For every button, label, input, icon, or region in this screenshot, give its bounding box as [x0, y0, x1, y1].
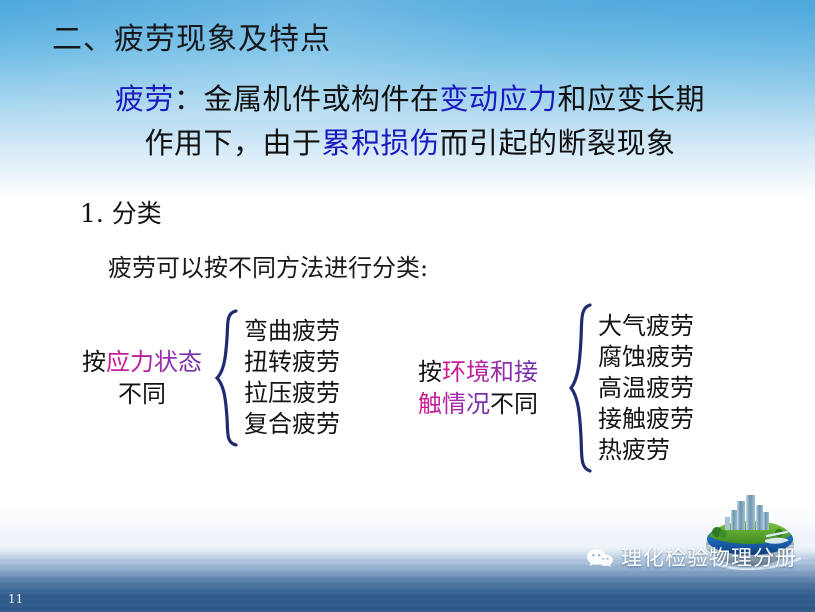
page-number: 11	[8, 592, 23, 606]
definition-term: 疲劳	[115, 82, 174, 116]
definition-part2: 和应变长期	[558, 82, 706, 116]
slide-canvas: 二、疲劳现象及特点 疲劳：金属机件或构件在变动应力和应变长期作用下，由于累积损伤…	[0, 0, 815, 612]
list-item: 热疲劳	[598, 435, 694, 466]
group-label-keyword: 应力状态	[106, 348, 202, 376]
group-label-stress-state: 按应力状态不同	[72, 346, 212, 410]
list-item: 腐蚀疲劳	[598, 342, 694, 373]
group-label-keyword: 环境和接	[442, 358, 538, 386]
list-item: 复合疲劳	[244, 409, 340, 440]
definition-paragraph: 疲劳：金属机件或构件在变动应力和应变长期作用下，由于累积损伤而引起的断裂现象	[40, 77, 780, 165]
wechat-icon	[586, 547, 614, 569]
watermark-bar: 理化检验物理分册	[586, 545, 797, 571]
definition-part4: 而引起的断裂现象	[440, 126, 676, 160]
definition-part1: 金属机件或构件在	[203, 82, 439, 116]
classification-group-environment-contact: 按环境和接触情况不同 大气疲劳 腐蚀疲劳 高温疲劳 接触疲劳 热疲劳	[418, 302, 694, 474]
definition-colon: ：	[174, 82, 204, 116]
list-item: 弯曲疲劳	[244, 316, 340, 347]
group-label-prefix: 按	[82, 348, 106, 376]
watermark: 理化检验物理分册	[586, 492, 815, 602]
classification-group-stress-state: 按应力状态不同 弯曲疲劳 扭转疲劳 拉压疲劳 复合疲劳	[72, 308, 340, 448]
group-label-environment-contact: 按环境和接触情况不同	[418, 356, 566, 420]
curly-brace-icon	[568, 302, 594, 474]
curly-brace-icon	[214, 308, 240, 448]
watermark-text: 理化检验物理分册	[621, 545, 797, 571]
group-label-keyword-2: 触情况	[418, 390, 490, 418]
page-title: 二、疲劳现象及特点	[52, 21, 331, 59]
list-item: 接触疲劳	[598, 404, 694, 435]
group-label-prefix: 按	[418, 358, 442, 386]
list-item: 高温疲劳	[598, 373, 694, 404]
group-items-stress-state: 弯曲疲劳 扭转疲劳 拉压疲劳 复合疲劳	[244, 316, 340, 440]
group-label-suffix: 不同	[118, 380, 166, 408]
classification-note: 疲劳可以按不同方法进行分类:	[108, 252, 428, 284]
group-label-suffix: 不同	[490, 390, 538, 418]
definition-highlight-variable-stress: 变动应力	[440, 82, 558, 116]
list-item: 扭转疲劳	[244, 347, 340, 378]
list-item: 大气疲劳	[598, 311, 694, 342]
definition-highlight-cumulative-damage: 累积损伤	[321, 126, 439, 160]
classification-heading: 1. 分类	[80, 197, 162, 231]
definition-part3: 作用下，由于	[144, 126, 321, 160]
list-item: 拉压疲劳	[244, 378, 340, 409]
group-items-environment-contact: 大气疲劳 腐蚀疲劳 高温疲劳 接触疲劳 热疲劳	[598, 311, 694, 466]
